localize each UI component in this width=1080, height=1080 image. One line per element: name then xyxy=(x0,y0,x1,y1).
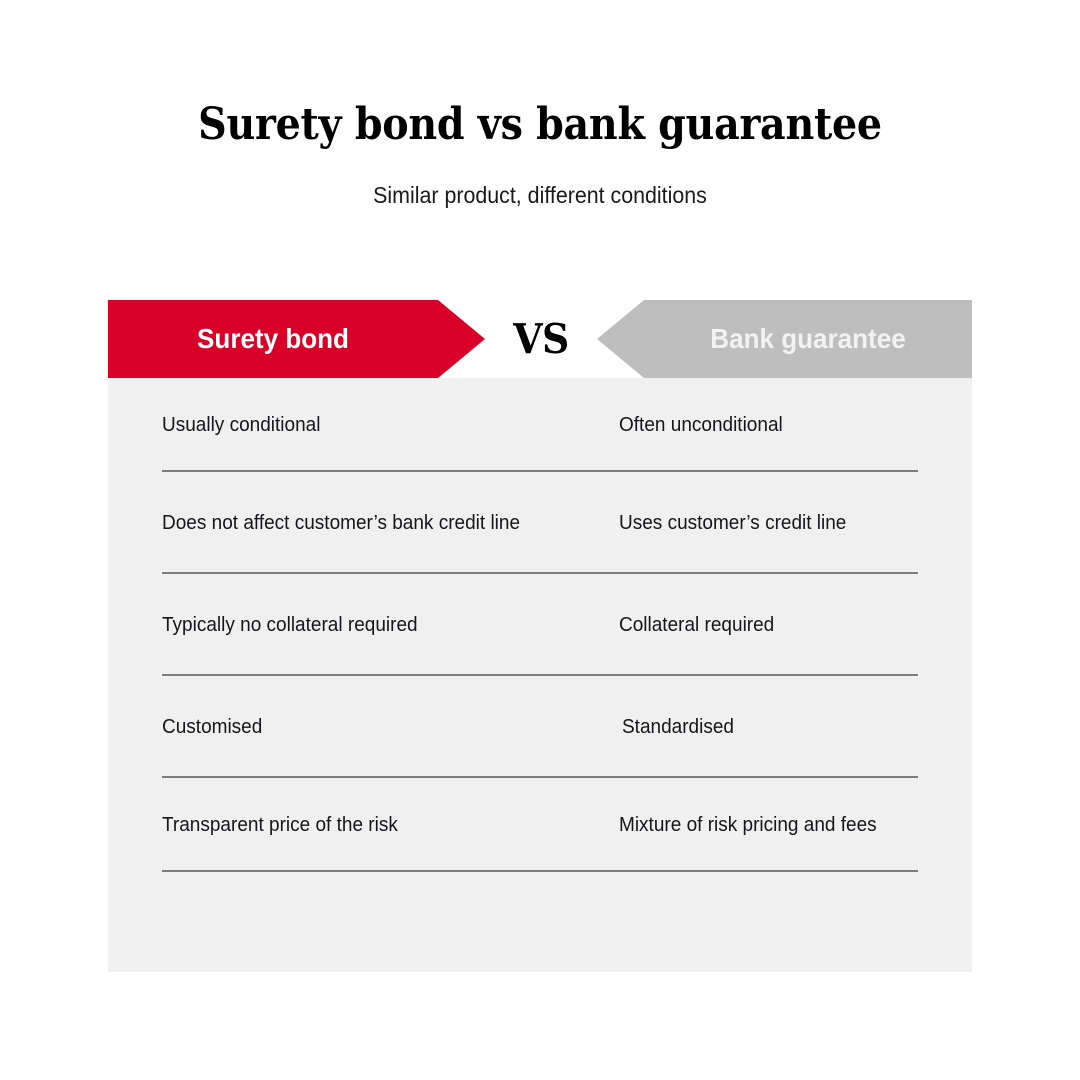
row-cell-bank-guarantee: Collateral required xyxy=(619,611,774,640)
comparison-row: Does not affect customer’s bank credit l… xyxy=(108,472,972,574)
row-cell-surety-bond: Usually conditional xyxy=(162,411,320,440)
row-cell-bank-guarantee: Standardised xyxy=(622,713,734,742)
comparison-header-band: Surety bond VS Bank guarantee xyxy=(108,300,972,378)
row-cell-surety-bond: Customised xyxy=(162,713,262,742)
row-cell-bank-guarantee: Mixture of risk pricing and fees xyxy=(619,811,877,840)
bank-guarantee-arrow-banner: Bank guarantee xyxy=(597,300,972,378)
row-cell-bank-guarantee: Often unconditional xyxy=(619,411,783,440)
comparison-panel: Surety bond VS Bank guarantee Usually co… xyxy=(108,300,972,972)
row-cell-surety-bond: Typically no collateral required xyxy=(162,611,418,640)
row-cell-bank-guarantee: Uses customer’s credit line xyxy=(619,509,846,538)
comparison-row: Transparent price of the riskMixture of … xyxy=(108,778,972,872)
row-cell-surety-bond: Transparent price of the risk xyxy=(162,811,398,840)
bank-guarantee-label: Bank guarantee xyxy=(655,322,960,356)
comparison-row: Typically no collateral requiredCollater… xyxy=(108,574,972,676)
row-cell-surety-bond: Does not affect customer’s bank credit l… xyxy=(162,509,520,538)
page-subtitle: Similar product, different conditions xyxy=(38,180,1042,210)
vs-label: VS xyxy=(489,300,592,378)
infographic-canvas: Surety bond vs bank guarantee Similar pr… xyxy=(0,0,1080,1080)
comparison-rows: Usually conditionalOften unconditionalDo… xyxy=(108,378,972,872)
page-title: Surety bond vs bank guarantee xyxy=(54,98,1026,152)
row-divider xyxy=(162,870,918,872)
comparison-row: Usually conditionalOften unconditional xyxy=(108,378,972,472)
comparison-row: CustomisedStandardised xyxy=(108,676,972,778)
surety-bond-label: Surety bond xyxy=(120,322,427,356)
surety-bond-arrow-banner: Surety bond xyxy=(108,300,485,378)
